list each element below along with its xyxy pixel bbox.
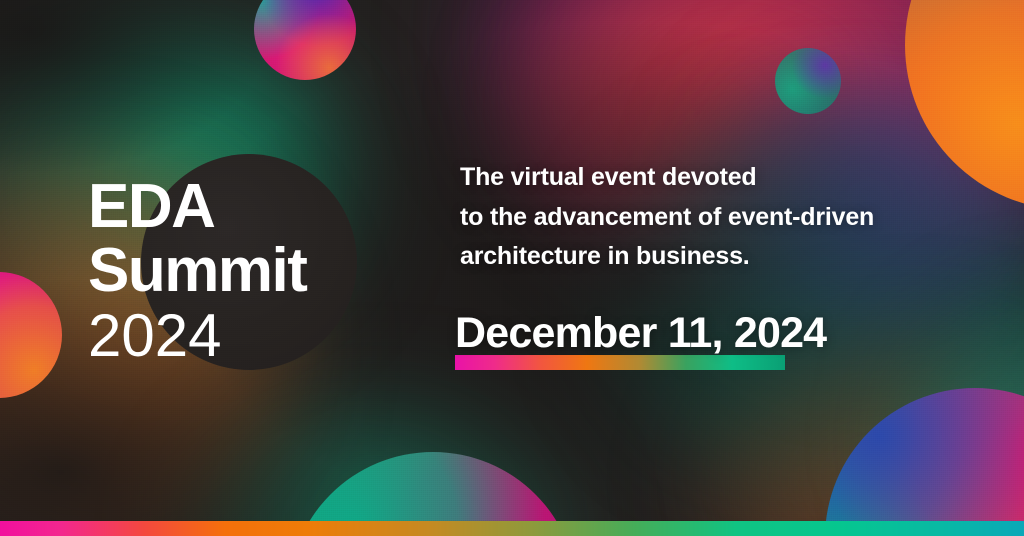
- event-date-block: December 11, 2024: [455, 310, 826, 370]
- tagline-line-2: to the advancement of event-driven: [460, 198, 980, 238]
- tagline-line-1: The virtual event devoted: [460, 158, 980, 198]
- logo-line-year: 2024: [88, 306, 306, 366]
- event-date: December 11, 2024: [455, 310, 826, 356]
- event-logo-lockup: EDA Summit 2024: [88, 176, 306, 366]
- date-gradient-underline: [455, 355, 785, 370]
- logo-line-eda: EDA: [88, 176, 306, 238]
- tagline-line-3: architecture in business.: [460, 237, 980, 277]
- logo-line-summit: Summit: [88, 240, 306, 302]
- event-tagline: The virtual event devoted to the advance…: [460, 158, 980, 277]
- bottom-gradient-bar: [0, 521, 1024, 536]
- banner-content: EDA Summit 2024 The virtual event devote…: [0, 0, 1024, 536]
- eda-summit-banner: EDA Summit 2024 The virtual event devote…: [0, 0, 1024, 536]
